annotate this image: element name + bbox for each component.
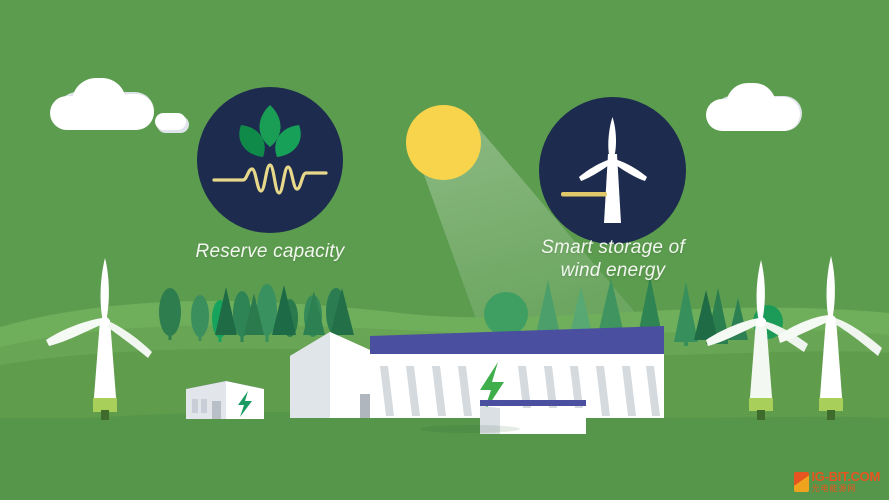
annex-shadow bbox=[420, 425, 520, 433]
turbine-left bbox=[40, 248, 170, 423]
badge-smart-storage-label: Smart storage of wind energy bbox=[505, 236, 721, 282]
substation-house bbox=[178, 375, 270, 423]
turbine-blade-up bbox=[757, 260, 765, 322]
turbine-base bbox=[819, 398, 843, 411]
badge-reserve-capacity-label: Reserve capacity bbox=[160, 240, 380, 263]
facility-roof bbox=[370, 326, 664, 358]
turbine-blade-right bbox=[833, 318, 882, 356]
badge-reserve-capacity[interactable] bbox=[197, 87, 343, 233]
energy-bar bbox=[561, 192, 607, 197]
turbine-tower bbox=[93, 320, 117, 410]
turbine-blade-right bbox=[106, 321, 152, 358]
turbine-blade-up bbox=[608, 117, 616, 159]
wind-turbine-icon bbox=[539, 97, 686, 244]
turbine-foot bbox=[101, 410, 109, 420]
annex-roof bbox=[480, 400, 586, 406]
conifer-tree bbox=[215, 287, 237, 335]
turbine-foot bbox=[827, 410, 835, 420]
turbine-tower bbox=[819, 318, 843, 410]
badge-smart-storage[interactable] bbox=[539, 97, 686, 244]
turbine-hub bbox=[609, 156, 617, 164]
turbine-base bbox=[93, 398, 117, 412]
sun bbox=[406, 105, 481, 180]
illustration-canvas: Reserve capacity Smart storage of wind e… bbox=[0, 0, 889, 500]
turbine-blade-left bbox=[706, 318, 760, 346]
turbine-blade-up bbox=[827, 256, 835, 320]
house-window bbox=[192, 399, 198, 413]
house-window bbox=[201, 399, 207, 413]
leaf-waveform-icon bbox=[197, 87, 343, 233]
turbine-blade-left bbox=[46, 318, 103, 346]
turbine-right-front bbox=[778, 248, 889, 424]
turbine-hub bbox=[756, 317, 766, 327]
turbine-blade-up bbox=[101, 258, 109, 322]
turbine-hub bbox=[100, 317, 110, 327]
house-door bbox=[212, 401, 221, 419]
watermark-sub-text: 光电能源网 bbox=[812, 485, 881, 493]
watermark-main-text: IG-BIT.COM bbox=[812, 470, 881, 483]
cloud-left-small bbox=[155, 113, 189, 133]
facility-left-wall bbox=[290, 332, 330, 418]
watermark-logo-icon bbox=[794, 472, 809, 492]
turbine-blade-left bbox=[778, 315, 830, 343]
turbine-foot bbox=[757, 410, 765, 420]
turbine-tower bbox=[749, 320, 773, 410]
waveform-line bbox=[214, 165, 326, 193]
facility-door bbox=[360, 394, 370, 418]
cloud-left-large bbox=[50, 78, 160, 130]
energy-storage-facility bbox=[282, 310, 672, 430]
conifer-tree bbox=[244, 293, 264, 335]
turbine-hub bbox=[826, 315, 836, 325]
turbine-base bbox=[749, 398, 773, 411]
ig-bit-watermark: IG-BIT.COM 光电能源网 bbox=[791, 468, 884, 495]
cloud-right bbox=[706, 83, 806, 131]
